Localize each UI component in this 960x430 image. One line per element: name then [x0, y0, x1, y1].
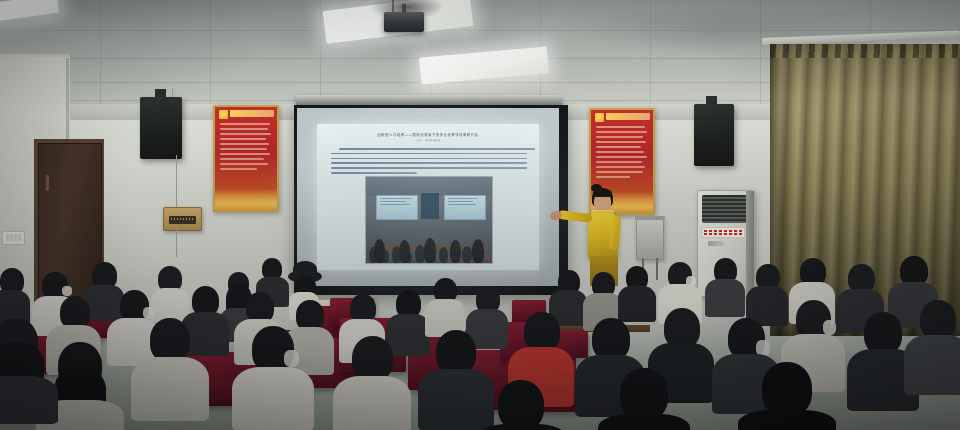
- curtain-pleat-header: [770, 44, 960, 58]
- poster-text-lines: [220, 123, 272, 188]
- torso: [738, 410, 836, 430]
- torso: [386, 314, 430, 356]
- head: [352, 336, 393, 381]
- ceiling-projector: [384, 12, 424, 32]
- torso: [598, 414, 690, 430]
- poster-title-band: [230, 110, 274, 117]
- projection-screen-frame: 创新型人才培养——国际化背景下的多元化教学改革研讨会 主讲人：教务处 教研室: [294, 105, 568, 295]
- light-switch-plate[interactable]: [2, 231, 25, 245]
- head: [920, 300, 956, 340]
- party-emblem-icon: [219, 110, 228, 119]
- photo-screen-center: [421, 193, 439, 219]
- head: [498, 380, 544, 430]
- wall-speaker-right: [694, 104, 734, 166]
- slide-embedded-photo: [365, 176, 493, 264]
- presenter-extended-arm: [558, 210, 593, 223]
- head: [664, 308, 700, 348]
- face-mask: [284, 350, 299, 367]
- lectern: [636, 218, 664, 260]
- head: [762, 362, 812, 416]
- speaker-cable-left: [176, 155, 177, 211]
- photo-screen-right: [444, 195, 486, 220]
- ac-vent-grille: [702, 195, 748, 223]
- left-wall-upper-edge: [0, 54, 70, 57]
- face-mask: [62, 286, 72, 296]
- wall-speaker-left: [140, 97, 182, 159]
- head: [620, 368, 668, 420]
- head: [150, 318, 190, 362]
- lecture-hall-photo: 创新型人才培养——国际化背景下的多元化教学改革研讨会 主讲人：教务处 教研室: [0, 0, 960, 430]
- torso: [618, 286, 656, 322]
- ac-warning-label: [701, 227, 745, 238]
- presenter-near-arm: [609, 215, 621, 250]
- slide-body-text: [331, 148, 527, 177]
- face-mask: [823, 320, 836, 335]
- ac-brand-logo: [708, 241, 724, 246]
- poster-title-band: [606, 113, 650, 120]
- torso: [333, 376, 411, 430]
- torso: [0, 376, 58, 424]
- amplifier-cable: [176, 229, 177, 257]
- projection-screen: 创新型人才培养——国际化背景下的多元化教学改革研讨会 主讲人：教务处 教研室: [297, 108, 559, 286]
- presenter-hair-front: [593, 189, 612, 197]
- projector-cable: [392, 0, 394, 12]
- party-emblem-icon: [595, 113, 604, 122]
- torso: [418, 369, 494, 430]
- door-handle[interactable]: [46, 175, 49, 191]
- photo-audience-heads: [366, 223, 492, 263]
- presentation-slide: 创新型人才培养——国际化背景下的多元化教学改革研讨会 主讲人：教务处 教研室: [317, 124, 539, 270]
- torso: [232, 367, 314, 430]
- head: [436, 330, 476, 374]
- slide-title: 创新型人才培养——国际化背景下的多元化教学改革研讨会: [317, 132, 539, 137]
- torso: [131, 357, 209, 421]
- torso: [705, 279, 745, 317]
- bucket-hat: [293, 261, 317, 277]
- head: [864, 312, 902, 354]
- face-mask: [143, 307, 154, 319]
- slide-subtitle: 主讲人：教务处 教研室: [317, 138, 539, 142]
- torso: [151, 288, 189, 322]
- ac-side-panel: [746, 191, 754, 296]
- torso: [84, 285, 124, 321]
- photo-screen-left: [376, 195, 418, 220]
- party-poster-left: [213, 105, 279, 212]
- head: [524, 312, 560, 352]
- wall-amplifier-box[interactable]: [163, 207, 202, 231]
- head: [592, 318, 630, 360]
- torso: [904, 335, 960, 395]
- lectern-leg: [656, 258, 658, 280]
- poster-gold-footer: [215, 190, 277, 210]
- lectern-top-surface: [635, 216, 665, 220]
- amplifier-display-slot: [169, 216, 196, 224]
